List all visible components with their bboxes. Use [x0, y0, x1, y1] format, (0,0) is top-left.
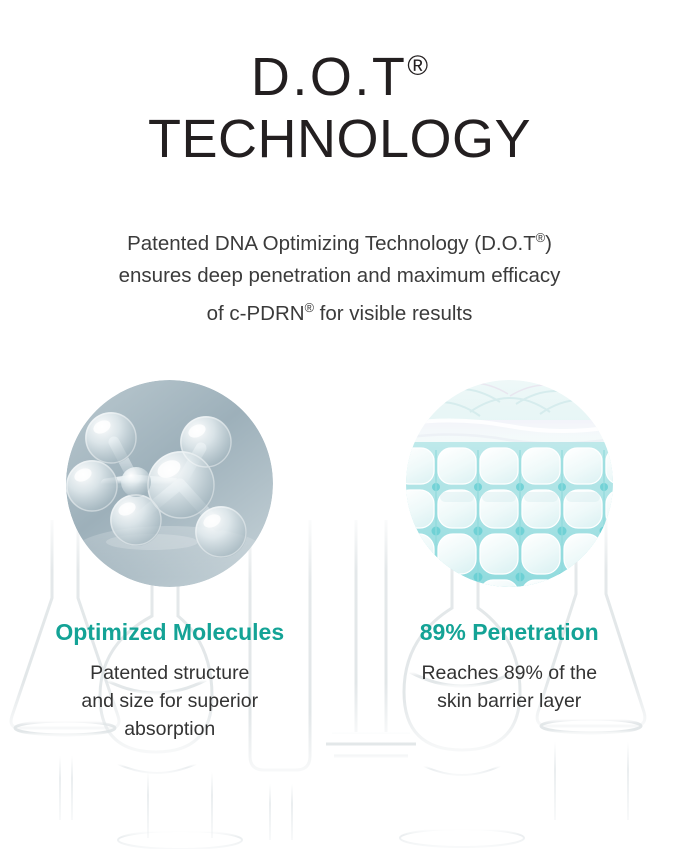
registered-trademark-icon: ® — [305, 300, 314, 315]
skin-barrier-lattice-illustration — [406, 380, 613, 587]
feature-title: 89% Penetration — [420, 619, 599, 645]
dot-technology-infographic: D.O.T® TECHNOLOGY Patented DNA Optimizin… — [0, 0, 679, 849]
page-subtitle: Patented DNA Optimizing Technology (D.O.… — [50, 222, 629, 330]
feature-columns: Optimized Molecules Patented structure a… — [0, 380, 679, 743]
subtitle-line-2: ensures deep penetration and maximum eff… — [119, 264, 561, 287]
feature-description: Reaches 89% of the skin barrier layer — [421, 659, 597, 715]
molecule-illustration — [66, 380, 273, 587]
feature-description-line-3: absorption — [124, 718, 215, 740]
feature-optimized-molecules: Optimized Molecules Patented structure a… — [0, 380, 340, 743]
feature-description-line-2: skin barrier layer — [437, 690, 581, 712]
registered-trademark-icon: ® — [536, 230, 545, 245]
feature-description-line-1: Reaches 89% of the — [421, 662, 597, 684]
feature-title: Optimized Molecules — [55, 619, 284, 645]
subtitle-line-3: of c-PDRN® for visible results — [207, 302, 473, 325]
feature-description-line-2: and size for superior — [81, 690, 258, 712]
title-line-2: TECHNOLOGY — [0, 112, 679, 166]
title-line-1: D.O.T® — [0, 50, 679, 104]
feature-description: Patented structure and size for superior… — [81, 659, 258, 743]
registered-trademark-icon: ® — [407, 50, 428, 81]
feature-penetration: 89% Penetration Reaches 89% of the skin … — [340, 380, 679, 743]
page-title: D.O.T® TECHNOLOGY — [0, 50, 679, 166]
feature-description-line-1: Patented structure — [90, 662, 249, 684]
subtitle-line-1: Patented DNA Optimizing Technology (D.O.… — [127, 232, 552, 255]
